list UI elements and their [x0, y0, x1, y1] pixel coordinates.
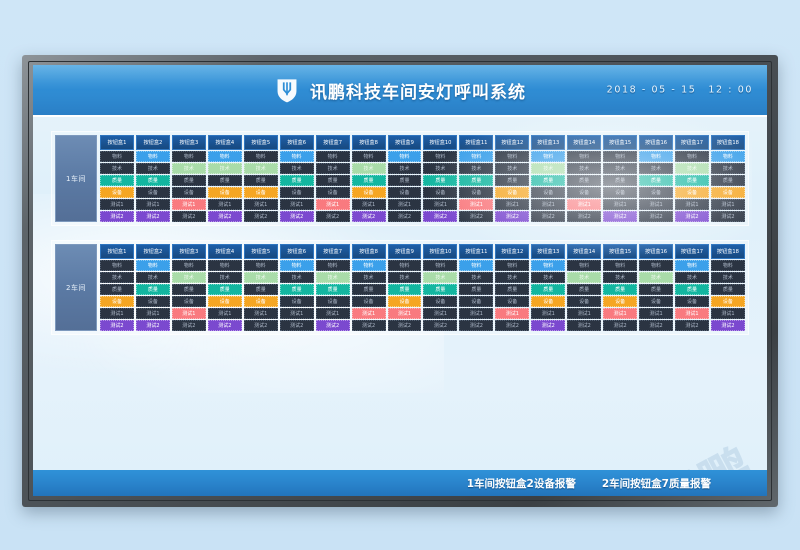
status-cell-quality[interactable]: 质量 — [639, 284, 673, 295]
status-cell-material[interactable]: 物料 — [531, 260, 565, 271]
button-box-column[interactable]: 按钮盒17物料技术质量设备测试1测试2 — [675, 135, 709, 222]
status-cell-material[interactable]: 物料 — [316, 260, 350, 271]
button-box-header[interactable]: 按钮盒17 — [675, 135, 709, 150]
status-cell-t1[interactable]: 测试1 — [567, 308, 601, 319]
status-cell-quality[interactable]: 质量 — [639, 175, 673, 186]
status-cell-equip[interactable]: 设备 — [423, 187, 457, 198]
status-cell-tech[interactable]: 技术 — [639, 163, 673, 174]
status-cell-t2[interactable]: 测试2 — [531, 320, 565, 331]
button-box-header[interactable]: 按钮盒11 — [459, 244, 493, 259]
status-cell-t2[interactable]: 测试2 — [675, 320, 709, 331]
status-cell-equip[interactable]: 设备 — [639, 187, 673, 198]
status-cell-tech[interactable]: 技术 — [459, 163, 493, 174]
button-box-header[interactable]: 按钮盒6 — [280, 244, 314, 259]
status-cell-quality[interactable]: 质量 — [711, 175, 745, 186]
status-cell-material[interactable]: 物料 — [352, 151, 386, 162]
status-cell-material[interactable]: 物料 — [459, 260, 493, 271]
status-cell-t2[interactable]: 测试2 — [675, 211, 709, 222]
status-cell-quality[interactable]: 质量 — [280, 284, 314, 295]
status-cell-material[interactable]: 物料 — [280, 260, 314, 271]
status-cell-quality[interactable]: 质量 — [100, 284, 134, 295]
status-cell-t2[interactable]: 测试2 — [639, 320, 673, 331]
workshop-area: 1车间按钮盒1物料技术质量设备测试1测试2按钮盒2物料技术质量设备测试1测试2按… — [33, 117, 767, 335]
status-cell-t2[interactable]: 测试2 — [316, 211, 350, 222]
status-cell-tech[interactable]: 技术 — [316, 163, 350, 174]
status-cell-t1[interactable]: 测试1 — [531, 308, 565, 319]
status-cell-tech[interactable]: 技术 — [280, 163, 314, 174]
status-cell-t1[interactable]: 测试1 — [495, 199, 529, 210]
status-cell-t2[interactable]: 测试2 — [208, 211, 242, 222]
status-cell-material[interactable]: 物料 — [639, 260, 673, 271]
status-cell-t1[interactable]: 测试1 — [136, 308, 170, 319]
button-box-header[interactable]: 按钮盒6 — [280, 135, 314, 150]
status-cell-quality[interactable]: 质量 — [316, 175, 350, 186]
status-cell-t1[interactable]: 测试1 — [352, 308, 386, 319]
button-box-header[interactable]: 按钮盒10 — [423, 244, 457, 259]
status-cell-t2[interactable]: 测试2 — [388, 320, 422, 331]
status-cell-t1[interactable]: 测试1 — [459, 199, 493, 210]
button-box-column[interactable]: 按钮盒2物料技术质量设备测试1测试2 — [136, 244, 170, 331]
status-cell-tech[interactable]: 技术 — [100, 272, 134, 283]
status-cell-material[interactable]: 物料 — [531, 151, 565, 162]
button-box-column[interactable]: 按钮盒7物料技术质量设备测试1测试2 — [316, 135, 350, 222]
status-cell-t2[interactable]: 测试2 — [208, 320, 242, 331]
status-cell-t2[interactable]: 测试2 — [459, 320, 493, 331]
button-box-header[interactable]: 按钮盒9 — [388, 244, 422, 259]
status-cell-t2[interactable]: 测试2 — [459, 211, 493, 222]
status-cell-quality[interactable]: 质量 — [495, 284, 529, 295]
button-box-header[interactable]: 按钮盒15 — [603, 244, 637, 259]
status-cell-quality[interactable]: 质量 — [172, 175, 206, 186]
button-box-column[interactable]: 按钮盒13物料技术质量设备测试1测试2 — [531, 135, 565, 222]
button-box-header[interactable]: 按钮盒2 — [136, 244, 170, 259]
status-cell-tech[interactable]: 技术 — [208, 163, 242, 174]
status-cell-quality[interactable]: 质量 — [675, 175, 709, 186]
shield-logo-icon — [274, 77, 300, 103]
status-cell-tech[interactable]: 技术 — [352, 163, 386, 174]
status-cell-quality[interactable]: 质量 — [459, 175, 493, 186]
status-cell-material[interactable]: 物料 — [172, 151, 206, 162]
status-cell-quality[interactable]: 质量 — [423, 284, 457, 295]
status-cell-t1[interactable]: 测试1 — [172, 308, 206, 319]
status-cell-t1[interactable]: 测试1 — [639, 199, 673, 210]
button-box-column[interactable]: 按钮盒16物料技术质量设备测试1测试2 — [639, 135, 673, 222]
status-cell-t1[interactable]: 测试1 — [495, 308, 529, 319]
status-cell-t1[interactable]: 测试1 — [316, 308, 350, 319]
status-cell-tech[interactable]: 技术 — [603, 163, 637, 174]
button-box-header[interactable]: 按钮盒4 — [208, 244, 242, 259]
status-cell-tech[interactable]: 技术 — [388, 163, 422, 174]
status-cell-tech[interactable]: 技术 — [711, 272, 745, 283]
button-box-column[interactable]: 按钮盒18物料技术质量设备测试1测试2 — [711, 135, 745, 222]
status-cell-t1[interactable]: 测试1 — [388, 199, 422, 210]
status-cell-quality[interactable]: 质量 — [244, 284, 278, 295]
button-box-column[interactable]: 按钮盒4物料技术质量设备测试1测试2 — [208, 135, 242, 222]
status-cell-t2[interactable]: 测试2 — [172, 211, 206, 222]
button-box-header[interactable]: 按钮盒8 — [352, 135, 386, 150]
status-cell-material[interactable]: 物料 — [495, 151, 529, 162]
status-cell-equip[interactable]: 设备 — [280, 296, 314, 307]
status-cell-t1[interactable]: 测试1 — [711, 308, 745, 319]
button-box-header[interactable]: 按钮盒13 — [531, 135, 565, 150]
status-cell-tech[interactable]: 技术 — [495, 163, 529, 174]
button-box-columns: 按钮盒1物料技术质量设备测试1测试2按钮盒2物料技术质量设备测试1测试2按钮盒3… — [100, 244, 745, 331]
status-cell-material[interactable]: 物料 — [100, 260, 134, 271]
status-cell-t1[interactable]: 测试1 — [172, 199, 206, 210]
button-box-column[interactable]: 按钮盒5物料技术质量设备测试1测试2 — [244, 135, 278, 222]
button-box-header[interactable]: 按钮盒12 — [495, 135, 529, 150]
status-cell-material[interactable]: 物料 — [388, 151, 422, 162]
status-cell-quality[interactable]: 质量 — [495, 175, 529, 186]
button-box-header[interactable]: 按钮盒3 — [172, 135, 206, 150]
button-box-column[interactable]: 按钮盒11物料技术质量设备测试1测试2 — [459, 244, 493, 331]
status-cell-t1[interactable]: 测试1 — [567, 199, 601, 210]
status-cell-material[interactable]: 物料 — [316, 151, 350, 162]
status-cell-equip[interactable]: 设备 — [100, 296, 134, 307]
status-cell-t1[interactable]: 测试1 — [352, 199, 386, 210]
status-cell-tech[interactable]: 技术 — [172, 163, 206, 174]
status-cell-equip[interactable]: 设备 — [352, 187, 386, 198]
status-cell-equip[interactable]: 设备 — [352, 296, 386, 307]
button-box-header[interactable]: 按钮盒11 — [459, 135, 493, 150]
status-cell-equip[interactable]: 设备 — [208, 296, 242, 307]
status-cell-equip[interactable]: 设备 — [459, 187, 493, 198]
status-cell-equip[interactable]: 设备 — [675, 296, 709, 307]
status-cell-tech[interactable]: 技术 — [100, 163, 134, 174]
button-box-column[interactable]: 按钮盒8物料技术质量设备测试1测试2 — [352, 244, 386, 331]
status-cell-equip[interactable]: 设备 — [603, 187, 637, 198]
status-cell-material[interactable]: 物料 — [711, 260, 745, 271]
button-box-column[interactable]: 按钮盒2物料技术质量设备测试1测试2 — [136, 135, 170, 222]
workshop-label: 2车间 — [55, 244, 97, 331]
status-cell-t1[interactable]: 测试1 — [675, 199, 709, 210]
status-cell-equip[interactable]: 设备 — [100, 187, 134, 198]
button-box-header[interactable]: 按钮盒1 — [100, 244, 134, 259]
status-cell-t1[interactable]: 测试1 — [603, 199, 637, 210]
status-cell-quality[interactable]: 质量 — [567, 175, 601, 186]
status-cell-tech[interactable]: 技术 — [244, 272, 278, 283]
status-cell-t1[interactable]: 测试1 — [280, 199, 314, 210]
status-cell-material[interactable]: 物料 — [244, 151, 278, 162]
button-box-column[interactable]: 按钮盒17物料技术质量设备测试1测试2 — [675, 244, 709, 331]
status-cell-tech[interactable]: 技术 — [531, 163, 565, 174]
status-cell-material[interactable]: 物料 — [423, 151, 457, 162]
status-cell-material[interactable]: 物料 — [280, 151, 314, 162]
button-box-header[interactable]: 按钮盒5 — [244, 135, 278, 150]
status-cell-equip[interactable]: 设备 — [675, 187, 709, 198]
status-cell-equip[interactable]: 设备 — [531, 187, 565, 198]
status-cell-quality[interactable]: 质量 — [603, 175, 637, 186]
button-box-header[interactable]: 按钮盒18 — [711, 135, 745, 150]
button-box-column[interactable]: 按钮盒7物料技术质量设备测试1测试2 — [316, 244, 350, 331]
button-box-header[interactable]: 按钮盒8 — [352, 244, 386, 259]
status-cell-material[interactable]: 物料 — [100, 151, 134, 162]
status-cell-t2[interactable]: 测试2 — [316, 320, 350, 331]
button-box-header[interactable]: 按钮盒13 — [531, 244, 565, 259]
status-cell-tech[interactable]: 技术 — [423, 163, 457, 174]
status-cell-quality[interactable]: 质量 — [531, 284, 565, 295]
status-cell-tech[interactable]: 技术 — [244, 163, 278, 174]
button-box-header[interactable]: 按钮盒14 — [567, 135, 601, 150]
status-cell-equip[interactable]: 设备 — [711, 187, 745, 198]
status-cell-t2[interactable]: 测试2 — [567, 320, 601, 331]
status-cell-material[interactable]: 物料 — [388, 260, 422, 271]
status-cell-equip[interactable]: 设备 — [388, 296, 422, 307]
button-box-column[interactable]: 按钮盒11物料技术质量设备测试1测试2 — [459, 135, 493, 222]
status-cell-t2[interactable]: 测试2 — [280, 211, 314, 222]
status-cell-quality[interactable]: 质量 — [244, 175, 278, 186]
button-box-header[interactable]: 按钮盒16 — [639, 244, 673, 259]
status-cell-t2[interactable]: 测试2 — [136, 211, 170, 222]
status-cell-t1[interactable]: 测试1 — [603, 308, 637, 319]
button-box-header[interactable]: 按钮盒14 — [567, 244, 601, 259]
status-cell-tech[interactable]: 技术 — [567, 163, 601, 174]
time-text: 12 : 00 — [708, 85, 753, 96]
status-cell-tech[interactable]: 技术 — [136, 163, 170, 174]
date-text: 2018 - 05 - 15 — [607, 85, 697, 96]
status-cell-quality[interactable]: 质量 — [316, 284, 350, 295]
status-cell-t2[interactable]: 测试2 — [711, 320, 745, 331]
button-box-column[interactable]: 按钮盒1物料技术质量设备测试1测试2 — [100, 135, 134, 222]
status-cell-t1[interactable]: 测试1 — [280, 308, 314, 319]
status-cell-quality[interactable]: 质量 — [603, 284, 637, 295]
status-cell-quality[interactable]: 质量 — [531, 175, 565, 186]
status-cell-material[interactable]: 物料 — [711, 151, 745, 162]
status-cell-t1[interactable]: 测试1 — [100, 308, 134, 319]
status-cell-t2[interactable]: 测试2 — [280, 320, 314, 331]
status-cell-equip[interactable]: 设备 — [280, 187, 314, 198]
status-cell-t2[interactable]: 测试2 — [639, 211, 673, 222]
status-cell-equip[interactable]: 设备 — [459, 296, 493, 307]
status-cell-tech[interactable]: 技术 — [136, 272, 170, 283]
button-box-column[interactable]: 按钮盒5物料技术质量设备测试1测试2 — [244, 244, 278, 331]
status-cell-tech[interactable]: 技术 — [495, 272, 529, 283]
status-cell-quality[interactable]: 质量 — [388, 284, 422, 295]
status-cell-material[interactable]: 物料 — [567, 151, 601, 162]
status-cell-t2[interactable]: 测试2 — [603, 211, 637, 222]
status-cell-equip[interactable]: 设备 — [603, 296, 637, 307]
status-cell-t1[interactable]: 测试1 — [531, 199, 565, 210]
status-cell-material[interactable]: 物料 — [244, 260, 278, 271]
status-cell-tech[interactable]: 技术 — [388, 272, 422, 283]
status-cell-tech[interactable]: 技术 — [172, 272, 206, 283]
status-cell-material[interactable]: 物料 — [567, 260, 601, 271]
status-cell-material[interactable]: 物料 — [136, 260, 170, 271]
status-cell-equip[interactable]: 设备 — [244, 296, 278, 307]
status-cell-material[interactable]: 物料 — [675, 151, 709, 162]
status-cell-tech[interactable]: 技术 — [280, 272, 314, 283]
status-cell-equip[interactable]: 设备 — [639, 296, 673, 307]
status-cell-tech[interactable]: 技术 — [711, 163, 745, 174]
status-cell-equip[interactable]: 设备 — [711, 296, 745, 307]
status-cell-t2[interactable]: 测试2 — [423, 211, 457, 222]
status-cell-t1[interactable]: 测试1 — [459, 308, 493, 319]
status-cell-t2[interactable]: 测试2 — [603, 320, 637, 331]
button-box-header[interactable]: 按钮盒3 — [172, 244, 206, 259]
button-box-header[interactable]: 按钮盒1 — [100, 135, 134, 150]
button-box-column[interactable]: 按钮盒10物料技术质量设备测试1测试2 — [423, 135, 457, 222]
status-cell-quality[interactable]: 质量 — [172, 284, 206, 295]
button-box-column[interactable]: 按钮盒4物料技术质量设备测试1测试2 — [208, 244, 242, 331]
status-cell-material[interactable]: 物料 — [603, 260, 637, 271]
button-box-column[interactable]: 按钮盒12物料技术质量设备测试1测试2 — [495, 135, 529, 222]
button-box-column[interactable]: 按钮盒6物料技术质量设备测试1测试2 — [280, 244, 314, 331]
button-box-column[interactable]: 按钮盒13物料技术质量设备测试1测试2 — [531, 244, 565, 331]
status-cell-quality[interactable]: 质量 — [423, 175, 457, 186]
button-box-column[interactable]: 按钮盒18物料技术质量设备测试1测试2 — [711, 244, 745, 331]
status-cell-equip[interactable]: 设备 — [136, 296, 170, 307]
status-cell-t2[interactable]: 测试2 — [352, 320, 386, 331]
status-cell-t2[interactable]: 测试2 — [100, 320, 134, 331]
status-cell-tech[interactable]: 技术 — [208, 272, 242, 283]
status-cell-tech[interactable]: 技术 — [352, 272, 386, 283]
button-box-header[interactable]: 按钮盒15 — [603, 135, 637, 150]
button-box-column[interactable]: 按钮盒9物料技术质量设备测试1测试2 — [388, 244, 422, 331]
status-cell-t2[interactable]: 测试2 — [172, 320, 206, 331]
button-box-column[interactable]: 按钮盒14物料技术质量设备测试1测试2 — [567, 244, 601, 331]
status-cell-equip[interactable]: 设备 — [316, 296, 350, 307]
status-cell-equip[interactable]: 设备 — [244, 187, 278, 198]
button-box-column[interactable]: 按钮盒15物料技术质量设备测试1测试2 — [603, 244, 637, 331]
status-cell-material[interactable]: 物料 — [603, 151, 637, 162]
status-cell-equip[interactable]: 设备 — [567, 187, 601, 198]
status-cell-material[interactable]: 物料 — [423, 260, 457, 271]
status-cell-t2[interactable]: 测试2 — [423, 320, 457, 331]
button-box-header[interactable]: 按钮盒17 — [675, 244, 709, 259]
status-cell-t2[interactable]: 测试2 — [531, 211, 565, 222]
status-cell-equip[interactable]: 设备 — [531, 296, 565, 307]
status-cell-equip[interactable]: 设备 — [423, 296, 457, 307]
status-cell-t1[interactable]: 测试1 — [208, 308, 242, 319]
status-cell-t2[interactable]: 测试2 — [100, 211, 134, 222]
status-cell-equip[interactable]: 设备 — [495, 187, 529, 198]
status-cell-equip[interactable]: 设备 — [495, 296, 529, 307]
page-background: 讯鹏科技车间安灯呼叫系统 2018 - 05 - 15 12 : 00 1车间按… — [0, 0, 800, 550]
status-cell-material[interactable]: 物料 — [675, 260, 709, 271]
status-cell-equip[interactable]: 设备 — [567, 296, 601, 307]
status-cell-quality[interactable]: 质量 — [352, 284, 386, 295]
status-cell-material[interactable]: 物料 — [495, 260, 529, 271]
status-cell-material[interactable]: 物料 — [208, 260, 242, 271]
status-cell-material[interactable]: 物料 — [172, 260, 206, 271]
button-box-column[interactable]: 按钮盒16物料技术质量设备测试1测试2 — [639, 244, 673, 331]
status-cell-quality[interactable]: 质量 — [459, 284, 493, 295]
button-box-column[interactable]: 按钮盒3物料技术质量设备测试1测试2 — [172, 244, 206, 331]
status-cell-quality[interactable]: 质量 — [100, 175, 134, 186]
status-cell-tech[interactable]: 技术 — [423, 272, 457, 283]
button-box-column[interactable]: 按钮盒3物料技术质量设备测试1测试2 — [172, 135, 206, 222]
alarm-message: 2车间按钮盒7质量报警 — [602, 476, 711, 491]
status-cell-material[interactable]: 物料 — [639, 151, 673, 162]
status-cell-quality[interactable]: 质量 — [208, 284, 242, 295]
status-cell-quality[interactable]: 质量 — [136, 284, 170, 295]
button-box-column[interactable]: 按钮盒12物料技术质量设备测试1测试2 — [495, 244, 529, 331]
status-cell-tech[interactable]: 技术 — [675, 163, 709, 174]
status-cell-equip[interactable]: 设备 — [316, 187, 350, 198]
status-cell-t1[interactable]: 测试1 — [244, 199, 278, 210]
status-cell-quality[interactable]: 质量 — [711, 284, 745, 295]
status-cell-t2[interactable]: 测试2 — [244, 211, 278, 222]
status-cell-material[interactable]: 物料 — [136, 151, 170, 162]
status-cell-t2[interactable]: 测试2 — [495, 320, 529, 331]
workshop-block: 1车间按钮盒1物料技术质量设备测试1测试2按钮盒2物料技术质量设备测试1测试2按… — [51, 131, 749, 226]
status-cell-equip[interactable]: 设备 — [388, 187, 422, 198]
button-box-column[interactable]: 按钮盒1物料技术质量设备测试1测试2 — [100, 244, 134, 331]
status-cell-material[interactable]: 物料 — [208, 151, 242, 162]
status-cell-tech[interactable]: 技术 — [316, 272, 350, 283]
status-cell-t1[interactable]: 测试1 — [244, 308, 278, 319]
button-box-column[interactable]: 按钮盒10物料技术质量设备测试1测试2 — [423, 244, 457, 331]
button-box-header[interactable]: 按钮盒12 — [495, 244, 529, 259]
status-cell-equip[interactable]: 设备 — [208, 187, 242, 198]
alarm-message: 1车间按钮盒2设备报警 — [467, 476, 576, 491]
status-cell-t2[interactable]: 测试2 — [388, 211, 422, 222]
status-cell-t2[interactable]: 测试2 — [244, 320, 278, 331]
status-cell-equip[interactable]: 设备 — [172, 296, 206, 307]
status-cell-t2[interactable]: 测试2 — [567, 211, 601, 222]
workshop-block: 2车间按钮盒1物料技术质量设备测试1测试2按钮盒2物料技术质量设备测试1测试2按… — [51, 240, 749, 335]
button-box-header[interactable]: 按钮盒10 — [423, 135, 457, 150]
button-box-column[interactable]: 按钮盒6物料技术质量设备测试1测试2 — [280, 135, 314, 222]
status-cell-t1[interactable]: 测试1 — [100, 199, 134, 210]
status-cell-t1[interactable]: 测试1 — [639, 308, 673, 319]
status-cell-t2[interactable]: 测试2 — [352, 211, 386, 222]
status-cell-t1[interactable]: 测试1 — [136, 199, 170, 210]
button-box-column[interactable]: 按钮盒9物料技术质量设备测试1测试2 — [388, 135, 422, 222]
status-cell-t2[interactable]: 测试2 — [495, 211, 529, 222]
status-cell-quality[interactable]: 质量 — [208, 175, 242, 186]
status-cell-tech[interactable]: 技术 — [567, 272, 601, 283]
status-cell-equip[interactable]: 设备 — [172, 187, 206, 198]
status-cell-quality[interactable]: 质量 — [388, 175, 422, 186]
status-cell-t2[interactable]: 测试2 — [711, 211, 745, 222]
status-cell-quality[interactable]: 质量 — [675, 284, 709, 295]
status-cell-t1[interactable]: 测试1 — [208, 199, 242, 210]
status-cell-tech[interactable]: 技术 — [639, 272, 673, 283]
button-box-column[interactable]: 按钮盒14物料技术质量设备测试1测试2 — [567, 135, 601, 222]
status-cell-t1[interactable]: 测试1 — [423, 199, 457, 210]
button-box-header[interactable]: 按钮盒2 — [136, 135, 170, 150]
status-cell-quality[interactable]: 质量 — [352, 175, 386, 186]
status-cell-tech[interactable]: 技术 — [603, 272, 637, 283]
status-cell-tech[interactable]: 技术 — [459, 272, 493, 283]
button-box-header[interactable]: 按钮盒9 — [388, 135, 422, 150]
status-cell-t1[interactable]: 测试1 — [675, 308, 709, 319]
button-box-header[interactable]: 按钮盒16 — [639, 135, 673, 150]
status-cell-t1[interactable]: 测试1 — [711, 199, 745, 210]
status-cell-t2[interactable]: 测试2 — [136, 320, 170, 331]
status-cell-quality[interactable]: 质量 — [567, 284, 601, 295]
status-cell-material[interactable]: 物料 — [352, 260, 386, 271]
button-box-column[interactable]: 按钮盒15物料技术质量设备测试1测试2 — [603, 135, 637, 222]
status-cell-tech[interactable]: 技术 — [675, 272, 709, 283]
monitor-frame: 讯鹏科技车间安灯呼叫系统 2018 - 05 - 15 12 : 00 1车间按… — [22, 55, 778, 507]
status-cell-tech[interactable]: 技术 — [531, 272, 565, 283]
status-cell-quality[interactable]: 质量 — [136, 175, 170, 186]
button-box-header[interactable]: 按钮盒4 — [208, 135, 242, 150]
button-box-header[interactable]: 按钮盒5 — [244, 244, 278, 259]
status-cell-t1[interactable]: 测试1 — [316, 199, 350, 210]
button-box-header[interactable]: 按钮盒7 — [316, 135, 350, 150]
status-cell-quality[interactable]: 质量 — [280, 175, 314, 186]
button-box-column[interactable]: 按钮盒8物料技术质量设备测试1测试2 — [352, 135, 386, 222]
status-cell-t1[interactable]: 测试1 — [388, 308, 422, 319]
button-box-header[interactable]: 按钮盒18 — [711, 244, 745, 259]
status-cell-material[interactable]: 物料 — [459, 151, 493, 162]
button-box-header[interactable]: 按钮盒7 — [316, 244, 350, 259]
status-cell-equip[interactable]: 设备 — [136, 187, 170, 198]
status-cell-t1[interactable]: 测试1 — [423, 308, 457, 319]
